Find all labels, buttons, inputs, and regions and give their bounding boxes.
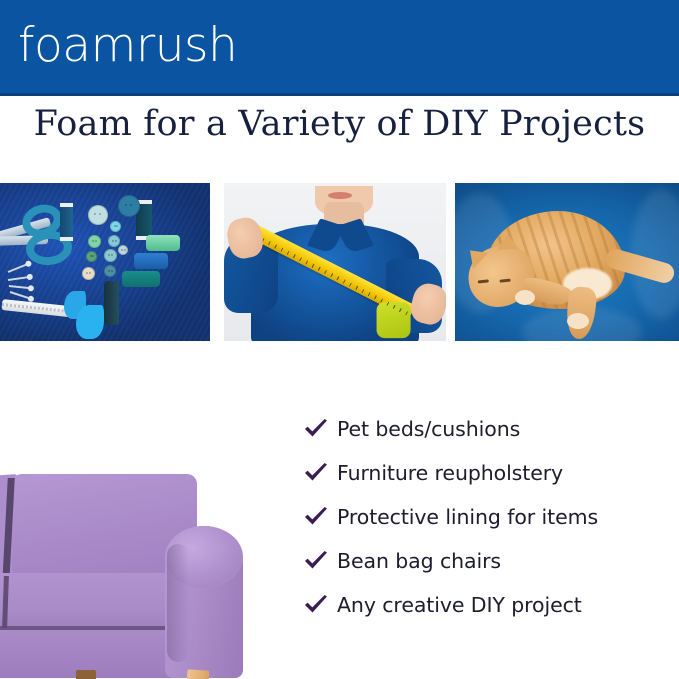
thread-spool-teal xyxy=(122,271,160,287)
list-item: Bean bag chairs xyxy=(303,540,679,581)
cat-ear-right xyxy=(497,234,520,250)
button-small-sky xyxy=(104,249,117,262)
brand-logo: foamrush xyxy=(18,22,237,69)
header-banner: foamrush xyxy=(0,0,679,96)
tape-measure-case xyxy=(376,302,410,338)
button-small-forest xyxy=(86,251,97,262)
cat-eye-right xyxy=(500,279,511,283)
button-large-pale xyxy=(88,205,108,225)
button-small-cream xyxy=(82,267,95,280)
benefit-label: Furniture reupholstery xyxy=(337,461,563,485)
button-tiny-pale xyxy=(118,245,128,255)
product-feature-graphic: foamrush Foam for a Variety of DIY Proje… xyxy=(0,0,679,679)
button-small-green xyxy=(88,235,101,248)
benefit-label: Bean bag chairs xyxy=(337,549,501,573)
check-icon xyxy=(303,462,337,484)
thread-spool-navy xyxy=(60,203,73,241)
button-small-cyan xyxy=(110,221,121,232)
benefit-label: Pet beds/cushions xyxy=(337,417,520,441)
benefit-list: Pet beds/cushions Furniture reupholstery… xyxy=(303,408,679,628)
photo-strip xyxy=(0,183,679,341)
cat-on-cushion-photo xyxy=(455,183,679,341)
cat-eye-left xyxy=(478,280,489,284)
cat-paw-hind xyxy=(567,313,589,329)
thread-spool-blue xyxy=(134,253,168,269)
button-small-teal xyxy=(108,235,120,247)
tailor-chalk-2 xyxy=(76,305,104,339)
check-icon xyxy=(303,418,337,440)
list-item: Pet beds/cushions xyxy=(303,408,679,449)
page-title: Foam for a Variety of DIY Projects xyxy=(0,104,679,144)
tape-measure-photo xyxy=(224,183,446,341)
check-icon xyxy=(303,550,337,572)
benefit-label: Protective lining for items xyxy=(337,505,598,529)
sofa-leg-front xyxy=(184,669,209,679)
purple-sofa-illustration xyxy=(0,448,250,679)
list-item: Protective lining for items xyxy=(303,496,679,537)
check-icon xyxy=(303,506,337,528)
thread-spool-charcoal xyxy=(104,281,119,325)
list-item: Furniture reupholstery xyxy=(303,452,679,493)
button-small-steel xyxy=(104,265,116,277)
check-icon xyxy=(303,594,337,616)
sewing-supplies-photo xyxy=(0,183,210,341)
sofa-leg-middle xyxy=(76,670,96,679)
thread-spool-mint xyxy=(146,235,180,251)
button-large-blue xyxy=(118,195,140,217)
sofa-arm-inner-shadow xyxy=(167,544,189,662)
list-item: Any creative DIY project xyxy=(303,584,679,625)
benefit-label: Any creative DIY project xyxy=(337,593,582,617)
